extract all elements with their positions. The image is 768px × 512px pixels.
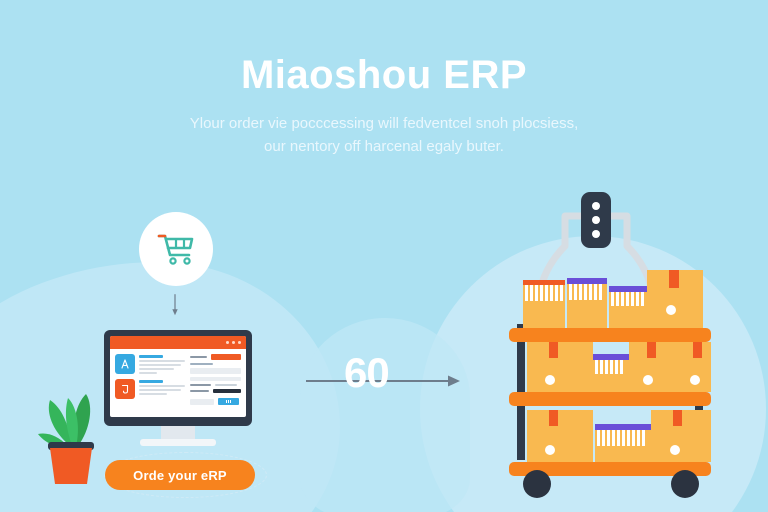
right-placeholder-block xyxy=(190,368,241,374)
shopping-cart-icon xyxy=(156,232,196,266)
background-blob-center xyxy=(300,318,470,512)
app-card-row xyxy=(115,354,185,374)
box-tape xyxy=(549,410,558,426)
right-label-line xyxy=(190,363,213,365)
app-body xyxy=(110,349,246,417)
crate-band xyxy=(523,280,565,285)
crate-band xyxy=(593,354,629,360)
box-label xyxy=(690,375,700,385)
box-tape xyxy=(669,270,679,288)
box-tape xyxy=(693,342,702,358)
card-body-line xyxy=(139,393,167,395)
box-label xyxy=(670,445,680,455)
grip-dot xyxy=(592,230,600,238)
app-left-column xyxy=(115,354,185,413)
box-tape xyxy=(549,342,558,358)
crate-band xyxy=(595,424,651,430)
trolley-shelf-middle xyxy=(509,392,711,406)
card-body-line xyxy=(139,360,185,362)
titlebar-dot xyxy=(232,341,235,344)
right-label-line xyxy=(190,356,206,358)
grip-dot xyxy=(592,202,600,210)
subtitle-line-1: Ylour order vie pocccessing will fedvent… xyxy=(120,112,648,135)
crate-band xyxy=(567,278,607,284)
box-label xyxy=(666,305,676,315)
order-your-erp-button[interactable]: Orde your eRP xyxy=(105,460,255,490)
secondary-action-button[interactable] xyxy=(213,389,241,393)
card-body-line xyxy=(139,385,185,387)
trolley-wheel xyxy=(523,470,551,498)
right-label-line xyxy=(190,390,209,392)
titlebar-dot xyxy=(226,341,229,344)
primary-action-button[interactable] xyxy=(211,354,241,360)
monitor-base xyxy=(140,439,216,446)
illustration-canvas: Miaoshou ERP Ylour order vie pocccessing… xyxy=(0,0,768,512)
crate xyxy=(523,280,565,328)
box-tape xyxy=(647,342,656,358)
app-card-row xyxy=(115,379,185,399)
card-body-line xyxy=(139,389,181,391)
trolley-shelf-top xyxy=(509,328,711,342)
crate-band xyxy=(609,286,647,292)
box-label xyxy=(545,375,555,385)
card-body-line xyxy=(139,368,174,370)
box-label xyxy=(643,375,653,385)
monitor-screen xyxy=(110,336,246,417)
titlebar-dot xyxy=(238,341,241,344)
blue-action-button[interactable] xyxy=(218,398,239,405)
flow-step-number: 60 xyxy=(344,352,389,394)
warehouse-trolley xyxy=(505,184,723,500)
monitor-neck xyxy=(161,426,195,439)
box-tape xyxy=(673,410,682,426)
shelf-bottom-items xyxy=(527,410,711,462)
app-titlebar xyxy=(110,336,246,349)
heading-block: Miaoshou ERP Ylour order vie pocccessing… xyxy=(0,52,768,159)
box xyxy=(527,342,593,392)
right-label-line xyxy=(215,384,238,386)
right-label-line xyxy=(190,384,210,386)
card-body-line xyxy=(139,364,181,366)
right-placeholder-block xyxy=(190,377,241,381)
cart-badge xyxy=(139,212,213,286)
card-heading-line xyxy=(139,355,163,358)
trolley-wheel xyxy=(671,470,699,498)
card-body-line xyxy=(139,372,157,374)
grip-dot xyxy=(592,216,600,224)
shelf-top-items xyxy=(523,270,703,328)
potted-plant xyxy=(28,372,112,486)
app-right-column xyxy=(190,354,241,413)
page-subtitle: Ylour order vie pocccessing will fedvent… xyxy=(0,112,768,159)
card-heading-line xyxy=(139,380,163,383)
desktop-monitor xyxy=(104,330,252,426)
box-label xyxy=(545,445,555,455)
box xyxy=(527,410,593,462)
flow-connector: 60 xyxy=(300,360,465,402)
app-card-text xyxy=(139,379,185,399)
tag-icon xyxy=(115,379,135,399)
shelf-middle-items xyxy=(527,342,711,392)
right-placeholder-block xyxy=(190,399,213,405)
arrow-down-icon xyxy=(172,288,178,322)
app-card-text xyxy=(139,354,185,374)
document-a-icon xyxy=(115,354,135,374)
subtitle-line-2: our nentory off harcenal egaly buter. xyxy=(120,135,648,158)
plant-pot xyxy=(50,448,92,484)
page-title: Miaoshou ERP xyxy=(0,52,768,98)
